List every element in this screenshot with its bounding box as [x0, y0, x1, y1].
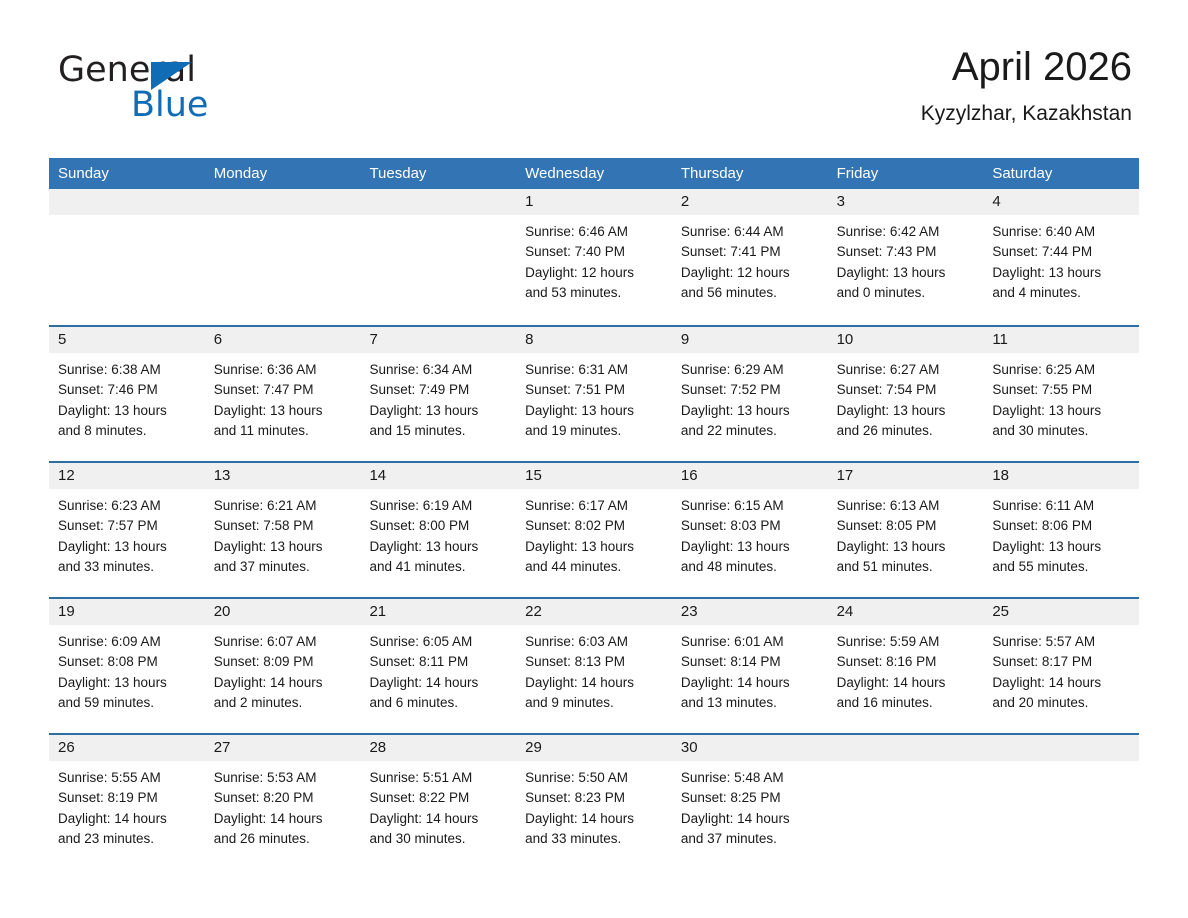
day-details: Sunrise: 6:34 AMSunset: 7:49 PMDaylight:… — [360, 353, 516, 441]
daylight-text: and 2 minutes. — [214, 693, 352, 713]
daylight-text: Daylight: 14 hours — [214, 809, 352, 829]
sunset-text: Sunset: 7:44 PM — [992, 242, 1130, 262]
day-cell[interactable]: 8Sunrise: 6:31 AMSunset: 7:51 PMDaylight… — [516, 327, 672, 458]
day-number-band: 23 — [672, 599, 828, 625]
day-number-band: 1 — [516, 189, 672, 215]
daylight-text: Daylight: 14 hours — [681, 809, 819, 829]
sunrise-text: Sunrise: 6:01 AM — [681, 632, 819, 652]
calendar-week-row: 26Sunrise: 5:55 AMSunset: 8:19 PMDayligh… — [49, 733, 1139, 866]
sunset-text: Sunset: 8:25 PM — [681, 788, 819, 808]
sunrise-text: Sunrise: 5:55 AM — [58, 768, 196, 788]
day-details: Sunrise: 6:19 AMSunset: 8:00 PMDaylight:… — [360, 489, 516, 577]
daylight-text: and 56 minutes. — [681, 283, 819, 303]
day-details: Sunrise: 6:07 AMSunset: 8:09 PMDaylight:… — [205, 625, 361, 713]
daylight-text: and 11 minutes. — [214, 421, 352, 441]
day-number: 2 — [672, 189, 828, 215]
sunrise-text: Sunrise: 6:15 AM — [681, 496, 819, 516]
sunset-text: Sunset: 7:47 PM — [214, 380, 352, 400]
day-number: 3 — [828, 189, 984, 215]
day-number-band: 13 — [205, 463, 361, 489]
day-cell[interactable]: 28Sunrise: 5:51 AMSunset: 8:22 PMDayligh… — [360, 735, 516, 866]
daylight-text: and 4 minutes. — [992, 283, 1130, 303]
sunrise-text: Sunrise: 6:21 AM — [214, 496, 352, 516]
day-details: Sunrise: 6:03 AMSunset: 8:13 PMDaylight:… — [516, 625, 672, 713]
daylight-text: Daylight: 13 hours — [369, 401, 507, 421]
sunrise-text: Sunrise: 6:38 AM — [58, 360, 196, 380]
sunrise-text: Sunrise: 6:42 AM — [837, 222, 975, 242]
day-details: Sunrise: 5:48 AMSunset: 8:25 PMDaylight:… — [672, 761, 828, 849]
daylight-text: Daylight: 14 hours — [837, 673, 975, 693]
daylight-text: and 30 minutes. — [992, 421, 1130, 441]
day-details: Sunrise: 6:46 AMSunset: 7:40 PMDaylight:… — [516, 215, 672, 303]
day-cell[interactable]: 24Sunrise: 5:59 AMSunset: 8:16 PMDayligh… — [828, 599, 984, 730]
daylight-text: Daylight: 13 hours — [58, 673, 196, 693]
location-subtitle: Kyzylzhar, Kazakhstan — [921, 100, 1132, 128]
day-cell[interactable]: 21Sunrise: 6:05 AMSunset: 8:11 PMDayligh… — [360, 599, 516, 730]
weekday-header-row: Sunday Monday Tuesday Wednesday Thursday… — [49, 158, 1139, 189]
day-details — [828, 761, 984, 768]
day-details: Sunrise: 6:05 AMSunset: 8:11 PMDaylight:… — [360, 625, 516, 713]
sunrise-text: Sunrise: 6:23 AM — [58, 496, 196, 516]
day-details: Sunrise: 5:51 AMSunset: 8:22 PMDaylight:… — [360, 761, 516, 849]
day-cell-empty — [205, 189, 361, 322]
day-details: Sunrise: 6:42 AMSunset: 7:43 PMDaylight:… — [828, 215, 984, 303]
sunrise-text: Sunrise: 6:29 AM — [681, 360, 819, 380]
daylight-text: Daylight: 13 hours — [58, 537, 196, 557]
sunset-text: Sunset: 8:19 PM — [58, 788, 196, 808]
weekday-header-thursday: Thursday — [672, 158, 828, 189]
daylight-text: and 6 minutes. — [369, 693, 507, 713]
sunset-text: Sunset: 8:03 PM — [681, 516, 819, 536]
sunset-text: Sunset: 7:43 PM — [837, 242, 975, 262]
daylight-text: and 20 minutes. — [992, 693, 1130, 713]
sunset-text: Sunset: 8:00 PM — [369, 516, 507, 536]
sunset-text: Sunset: 8:13 PM — [525, 652, 663, 672]
daylight-text: and 13 minutes. — [681, 693, 819, 713]
day-number: 23 — [672, 599, 828, 625]
day-cell-empty — [360, 189, 516, 322]
sunrise-text: Sunrise: 6:03 AM — [525, 632, 663, 652]
sunrise-text: Sunrise: 6:46 AM — [525, 222, 663, 242]
day-number: 13 — [205, 463, 361, 489]
day-number-band: 18 — [983, 463, 1139, 489]
weekday-header-monday: Monday — [205, 158, 361, 189]
day-number: 4 — [983, 189, 1139, 215]
day-number-band: 8 — [516, 327, 672, 353]
day-cell[interactable]: 26Sunrise: 5:55 AMSunset: 8:19 PMDayligh… — [49, 735, 205, 866]
day-details: Sunrise: 5:57 AMSunset: 8:17 PMDaylight:… — [983, 625, 1139, 713]
sunrise-text: Sunrise: 6:27 AM — [837, 360, 975, 380]
day-number-band: 4 — [983, 189, 1139, 215]
day-details: Sunrise: 5:59 AMSunset: 8:16 PMDaylight:… — [828, 625, 984, 713]
logo-text-blue: Blue — [131, 85, 208, 125]
daylight-text: and 44 minutes. — [525, 557, 663, 577]
calendar-week-row: 1Sunrise: 6:46 AMSunset: 7:40 PMDaylight… — [49, 189, 1139, 322]
day-details: Sunrise: 6:44 AMSunset: 7:41 PMDaylight:… — [672, 215, 828, 303]
day-details: Sunrise: 6:27 AMSunset: 7:54 PMDaylight:… — [828, 353, 984, 441]
day-number-band: 30 — [672, 735, 828, 761]
day-number: 17 — [828, 463, 984, 489]
sunset-text: Sunset: 8:05 PM — [837, 516, 975, 536]
daylight-text: and 59 minutes. — [58, 693, 196, 713]
sunset-text: Sunset: 8:14 PM — [681, 652, 819, 672]
day-cell[interactable]: 6Sunrise: 6:36 AMSunset: 7:47 PMDaylight… — [205, 327, 361, 458]
day-details: Sunrise: 6:15 AMSunset: 8:03 PMDaylight:… — [672, 489, 828, 577]
sunset-text: Sunset: 7:55 PM — [992, 380, 1130, 400]
daylight-text: Daylight: 13 hours — [837, 263, 975, 283]
sunrise-text: Sunrise: 6:17 AM — [525, 496, 663, 516]
day-cell[interactable]: 13Sunrise: 6:21 AMSunset: 7:58 PMDayligh… — [205, 463, 361, 594]
daylight-text: Daylight: 13 hours — [992, 263, 1130, 283]
daylight-text: Daylight: 12 hours — [525, 263, 663, 283]
day-number: 15 — [516, 463, 672, 489]
day-number-band: 10 — [828, 327, 984, 353]
sunset-text: Sunset: 8:11 PM — [369, 652, 507, 672]
day-number-band: 2 — [672, 189, 828, 215]
daylight-text: Daylight: 12 hours — [681, 263, 819, 283]
sunset-text: Sunset: 7:58 PM — [214, 516, 352, 536]
sunrise-text: Sunrise: 6:40 AM — [992, 222, 1130, 242]
day-number-band — [205, 189, 361, 215]
sunrise-text: Sunrise: 5:53 AM — [214, 768, 352, 788]
day-cell-empty — [828, 735, 984, 866]
day-number: 29 — [516, 735, 672, 761]
calendar-weeks: 1Sunrise: 6:46 AMSunset: 7:40 PMDaylight… — [49, 189, 1139, 866]
sunset-text: Sunset: 7:40 PM — [525, 242, 663, 262]
sunset-text: Sunset: 7:57 PM — [58, 516, 196, 536]
daylight-text: Daylight: 13 hours — [992, 537, 1130, 557]
day-number-band — [360, 189, 516, 215]
calendar-week-row: 19Sunrise: 6:09 AMSunset: 8:08 PMDayligh… — [49, 597, 1139, 730]
sunset-text: Sunset: 8:16 PM — [837, 652, 975, 672]
daylight-text: and 9 minutes. — [525, 693, 663, 713]
day-number-band: 16 — [672, 463, 828, 489]
sunrise-text: Sunrise: 5:48 AM — [681, 768, 819, 788]
day-details: Sunrise: 6:09 AMSunset: 8:08 PMDaylight:… — [49, 625, 205, 713]
daylight-text: Daylight: 13 hours — [58, 401, 196, 421]
sunrise-text: Sunrise: 6:19 AM — [369, 496, 507, 516]
sunrise-text: Sunrise: 6:31 AM — [525, 360, 663, 380]
day-number-band: 11 — [983, 327, 1139, 353]
day-cell[interactable]: 12Sunrise: 6:23 AMSunset: 7:57 PMDayligh… — [49, 463, 205, 594]
daylight-text: and 16 minutes. — [837, 693, 975, 713]
daylight-text: and 53 minutes. — [525, 283, 663, 303]
day-details: Sunrise: 6:23 AMSunset: 7:57 PMDaylight:… — [49, 489, 205, 577]
daylight-text: Daylight: 13 hours — [214, 537, 352, 557]
day-cell[interactable]: 10Sunrise: 6:27 AMSunset: 7:54 PMDayligh… — [828, 327, 984, 458]
day-cell[interactable]: 5Sunrise: 6:38 AMSunset: 7:46 PMDaylight… — [49, 327, 205, 458]
day-cell[interactable]: 25Sunrise: 5:57 AMSunset: 8:17 PMDayligh… — [983, 599, 1139, 730]
day-number: 24 — [828, 599, 984, 625]
sunrise-text: Sunrise: 6:44 AM — [681, 222, 819, 242]
day-number-band: 15 — [516, 463, 672, 489]
day-cell[interactable]: 18Sunrise: 6:11 AMSunset: 8:06 PMDayligh… — [983, 463, 1139, 594]
day-number-band: 21 — [360, 599, 516, 625]
day-number-band: 19 — [49, 599, 205, 625]
sunrise-text: Sunrise: 5:59 AM — [837, 632, 975, 652]
daylight-text: Daylight: 13 hours — [837, 537, 975, 557]
sunset-text: Sunset: 7:51 PM — [525, 380, 663, 400]
sunrise-text: Sunrise: 6:34 AM — [369, 360, 507, 380]
daylight-text: and 37 minutes. — [214, 557, 352, 577]
sunset-text: Sunset: 8:08 PM — [58, 652, 196, 672]
day-cell[interactable]: 7Sunrise: 6:34 AMSunset: 7:49 PMDaylight… — [360, 327, 516, 458]
day-cell[interactable]: 2Sunrise: 6:44 AMSunset: 7:41 PMDaylight… — [672, 189, 828, 322]
sunset-text: Sunset: 7:52 PM — [681, 380, 819, 400]
sunset-text: Sunset: 8:22 PM — [369, 788, 507, 808]
daylight-text: Daylight: 13 hours — [681, 401, 819, 421]
daylight-text: and 33 minutes. — [525, 829, 663, 849]
day-details: Sunrise: 6:13 AMSunset: 8:05 PMDaylight:… — [828, 489, 984, 577]
sunset-text: Sunset: 7:54 PM — [837, 380, 975, 400]
day-number-band: 3 — [828, 189, 984, 215]
day-number: 28 — [360, 735, 516, 761]
day-cell[interactable]: 20Sunrise: 6:07 AMSunset: 8:09 PMDayligh… — [205, 599, 361, 730]
day-number: 1 — [516, 189, 672, 215]
day-details — [360, 215, 516, 222]
day-number: 8 — [516, 327, 672, 353]
day-number: 10 — [828, 327, 984, 353]
sunrise-text: Sunrise: 6:05 AM — [369, 632, 507, 652]
daylight-text: Daylight: 14 hours — [58, 809, 196, 829]
day-number-band: 14 — [360, 463, 516, 489]
sunset-text: Sunset: 8:02 PM — [525, 516, 663, 536]
day-cell-empty — [983, 735, 1139, 866]
day-details: Sunrise: 6:40 AMSunset: 7:44 PMDaylight:… — [983, 215, 1139, 303]
sunrise-text: Sunrise: 5:50 AM — [525, 768, 663, 788]
day-cell[interactable]: 22Sunrise: 6:03 AMSunset: 8:13 PMDayligh… — [516, 599, 672, 730]
daylight-text: and 37 minutes. — [681, 829, 819, 849]
daylight-text: and 8 minutes. — [58, 421, 196, 441]
day-number: 21 — [360, 599, 516, 625]
day-cell[interactable]: 17Sunrise: 6:13 AMSunset: 8:05 PMDayligh… — [828, 463, 984, 594]
day-number-band: 20 — [205, 599, 361, 625]
day-cell[interactable]: 11Sunrise: 6:25 AMSunset: 7:55 PMDayligh… — [983, 327, 1139, 458]
daylight-text: Daylight: 13 hours — [525, 401, 663, 421]
day-details: Sunrise: 6:17 AMSunset: 8:02 PMDaylight:… — [516, 489, 672, 577]
day-number-band: 28 — [360, 735, 516, 761]
day-details: Sunrise: 6:29 AMSunset: 7:52 PMDaylight:… — [672, 353, 828, 441]
day-cell[interactable]: 29Sunrise: 5:50 AMSunset: 8:23 PMDayligh… — [516, 735, 672, 866]
page-header: General Blue April 2026 Kyzylzhar, Kazak… — [0, 0, 1188, 118]
day-number-band: 5 — [49, 327, 205, 353]
daylight-text: Daylight: 13 hours — [681, 537, 819, 557]
day-number-band: 22 — [516, 599, 672, 625]
day-details: Sunrise: 6:25 AMSunset: 7:55 PMDaylight:… — [983, 353, 1139, 441]
calendar-week-row: 5Sunrise: 6:38 AMSunset: 7:46 PMDaylight… — [49, 325, 1139, 458]
day-cell[interactable]: 30Sunrise: 5:48 AMSunset: 8:25 PMDayligh… — [672, 735, 828, 866]
day-details: Sunrise: 5:53 AMSunset: 8:20 PMDaylight:… — [205, 761, 361, 849]
daylight-text: Daylight: 13 hours — [369, 537, 507, 557]
day-number: 14 — [360, 463, 516, 489]
day-cell[interactable]: 4Sunrise: 6:40 AMSunset: 7:44 PMDaylight… — [983, 189, 1139, 322]
weekday-header-sunday: Sunday — [49, 158, 205, 189]
title-block: April 2026 Kyzylzhar, Kazakhstan — [921, 42, 1132, 128]
day-number-band: 7 — [360, 327, 516, 353]
day-number: 25 — [983, 599, 1139, 625]
day-cell[interactable]: 15Sunrise: 6:17 AMSunset: 8:02 PMDayligh… — [516, 463, 672, 594]
day-details — [49, 215, 205, 222]
day-details: Sunrise: 6:11 AMSunset: 8:06 PMDaylight:… — [983, 489, 1139, 577]
day-number: 6 — [205, 327, 361, 353]
day-cell[interactable]: 19Sunrise: 6:09 AMSunset: 8:08 PMDayligh… — [49, 599, 205, 730]
day-number: 26 — [49, 735, 205, 761]
day-number: 20 — [205, 599, 361, 625]
daylight-text: Daylight: 14 hours — [681, 673, 819, 693]
day-number: 11 — [983, 327, 1139, 353]
day-cell[interactable]: 1Sunrise: 6:46 AMSunset: 7:40 PMDaylight… — [516, 189, 672, 322]
day-number-band: 27 — [205, 735, 361, 761]
day-number-band: 26 — [49, 735, 205, 761]
weekday-header-tuesday: Tuesday — [360, 158, 516, 189]
calendar-page: General Blue April 2026 Kyzylzhar, Kazak… — [0, 0, 1188, 918]
day-number-band: 29 — [516, 735, 672, 761]
day-number: 22 — [516, 599, 672, 625]
sunset-text: Sunset: 7:49 PM — [369, 380, 507, 400]
day-cell[interactable]: 3Sunrise: 6:42 AMSunset: 7:43 PMDaylight… — [828, 189, 984, 322]
sunset-text: Sunset: 7:46 PM — [58, 380, 196, 400]
calendar-grid: Sunday Monday Tuesday Wednesday Thursday… — [49, 158, 1139, 866]
day-number: 9 — [672, 327, 828, 353]
day-number-band: 6 — [205, 327, 361, 353]
day-details: Sunrise: 6:31 AMSunset: 7:51 PMDaylight:… — [516, 353, 672, 441]
daylight-text: Daylight: 13 hours — [837, 401, 975, 421]
day-number-band — [828, 735, 984, 761]
day-cell[interactable]: 9Sunrise: 6:29 AMSunset: 7:52 PMDaylight… — [672, 327, 828, 458]
day-number: 18 — [983, 463, 1139, 489]
day-details — [983, 761, 1139, 768]
daylight-text: Daylight: 13 hours — [525, 537, 663, 557]
day-number-band — [983, 735, 1139, 761]
daylight-text: and 22 minutes. — [681, 421, 819, 441]
day-cell[interactable]: 14Sunrise: 6:19 AMSunset: 8:00 PMDayligh… — [360, 463, 516, 594]
day-cell[interactable]: 27Sunrise: 5:53 AMSunset: 8:20 PMDayligh… — [205, 735, 361, 866]
daylight-text: and 30 minutes. — [369, 829, 507, 849]
sunrise-text: Sunrise: 6:07 AM — [214, 632, 352, 652]
daylight-text: and 19 minutes. — [525, 421, 663, 441]
weekday-header-friday: Friday — [828, 158, 984, 189]
daylight-text: and 48 minutes. — [681, 557, 819, 577]
day-details: Sunrise: 6:38 AMSunset: 7:46 PMDaylight:… — [49, 353, 205, 441]
day-number: 30 — [672, 735, 828, 761]
sunset-text: Sunset: 8:20 PM — [214, 788, 352, 808]
sunset-text: Sunset: 8:09 PM — [214, 652, 352, 672]
weekday-header-wednesday: Wednesday — [516, 158, 672, 189]
daylight-text: and 41 minutes. — [369, 557, 507, 577]
sunrise-text: Sunrise: 6:13 AM — [837, 496, 975, 516]
day-cell-empty — [49, 189, 205, 322]
day-number-band: 25 — [983, 599, 1139, 625]
sunrise-text: Sunrise: 6:36 AM — [214, 360, 352, 380]
sunrise-text: Sunrise: 6:11 AM — [992, 496, 1130, 516]
daylight-text: and 15 minutes. — [369, 421, 507, 441]
daylight-text: Daylight: 14 hours — [369, 673, 507, 693]
day-number-band: 12 — [49, 463, 205, 489]
day-number-band: 24 — [828, 599, 984, 625]
sunset-text: Sunset: 8:06 PM — [992, 516, 1130, 536]
day-details: Sunrise: 6:01 AMSunset: 8:14 PMDaylight:… — [672, 625, 828, 713]
sunrise-text: Sunrise: 5:57 AM — [992, 632, 1130, 652]
day-number: 12 — [49, 463, 205, 489]
day-cell[interactable]: 23Sunrise: 6:01 AMSunset: 8:14 PMDayligh… — [672, 599, 828, 730]
day-details: Sunrise: 6:21 AMSunset: 7:58 PMDaylight:… — [205, 489, 361, 577]
sunrise-text: Sunrise: 6:25 AM — [992, 360, 1130, 380]
page-title: April 2026 — [921, 42, 1132, 92]
daylight-text: and 33 minutes. — [58, 557, 196, 577]
day-details: Sunrise: 5:55 AMSunset: 8:19 PMDaylight:… — [49, 761, 205, 849]
day-number-band — [49, 189, 205, 215]
day-number: 27 — [205, 735, 361, 761]
daylight-text: and 51 minutes. — [837, 557, 975, 577]
daylight-text: Daylight: 14 hours — [992, 673, 1130, 693]
day-number: 19 — [49, 599, 205, 625]
daylight-text: Daylight: 14 hours — [525, 673, 663, 693]
daylight-text: Daylight: 13 hours — [214, 401, 352, 421]
day-details: Sunrise: 6:36 AMSunset: 7:47 PMDaylight:… — [205, 353, 361, 441]
sunset-text: Sunset: 8:23 PM — [525, 788, 663, 808]
sunset-text: Sunset: 8:17 PM — [992, 652, 1130, 672]
daylight-text: and 23 minutes. — [58, 829, 196, 849]
daylight-text: Daylight: 14 hours — [214, 673, 352, 693]
daylight-text: Daylight: 14 hours — [525, 809, 663, 829]
daylight-text: and 55 minutes. — [992, 557, 1130, 577]
sunrise-text: Sunrise: 6:09 AM — [58, 632, 196, 652]
day-cell[interactable]: 16Sunrise: 6:15 AMSunset: 8:03 PMDayligh… — [672, 463, 828, 594]
day-number-band: 17 — [828, 463, 984, 489]
sunrise-text: Sunrise: 5:51 AM — [369, 768, 507, 788]
daylight-text: and 26 minutes. — [837, 421, 975, 441]
day-number-band: 9 — [672, 327, 828, 353]
daylight-text: Daylight: 14 hours — [369, 809, 507, 829]
day-number: 16 — [672, 463, 828, 489]
generalblue-logo[interactable]: General Blue — [58, 50, 358, 130]
day-details — [205, 215, 361, 222]
sunset-text: Sunset: 7:41 PM — [681, 242, 819, 262]
daylight-text: and 26 minutes. — [214, 829, 352, 849]
calendar-week-row: 12Sunrise: 6:23 AMSunset: 7:57 PMDayligh… — [49, 461, 1139, 594]
daylight-text: and 0 minutes. — [837, 283, 975, 303]
weekday-header-saturday: Saturday — [983, 158, 1139, 189]
day-details: Sunrise: 5:50 AMSunset: 8:23 PMDaylight:… — [516, 761, 672, 849]
daylight-text: Daylight: 13 hours — [992, 401, 1130, 421]
day-number: 5 — [49, 327, 205, 353]
day-number: 7 — [360, 327, 516, 353]
